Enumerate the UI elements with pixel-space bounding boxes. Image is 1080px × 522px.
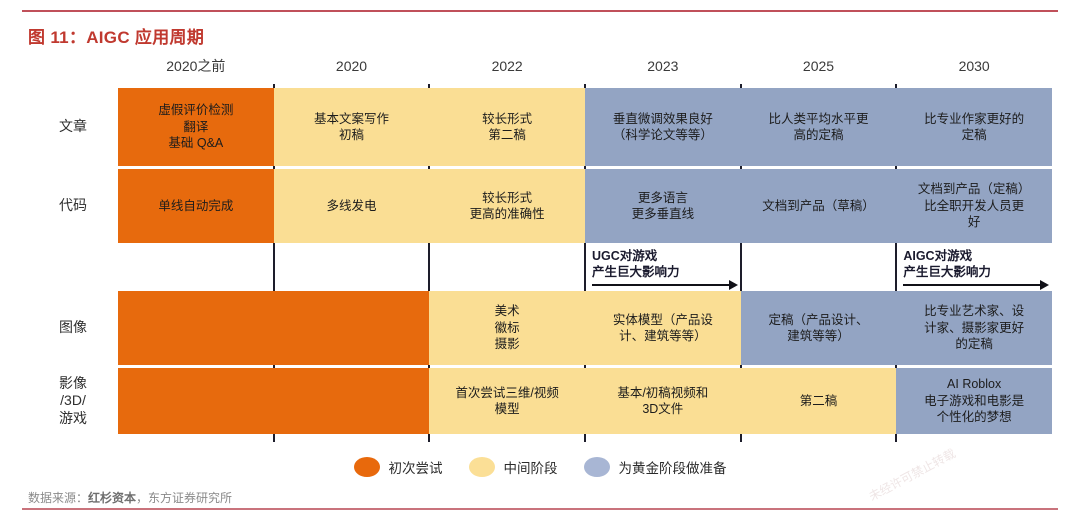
annotation-text-0: UGC对游戏 产生巨大影响力 xyxy=(592,248,738,281)
legend-label-orange: 初次尝试 xyxy=(389,457,443,477)
legend-swatch-blue xyxy=(584,457,610,477)
bottom-rule xyxy=(22,508,1058,510)
annotation-arrow-line-1 xyxy=(903,284,1041,286)
legend-item-orange: 初次尝试 xyxy=(354,457,443,477)
source-note: 数据来源：红杉资本，东方证券研究所 xyxy=(28,489,232,506)
source-suffix: ，东方证券研究所 xyxy=(136,491,232,505)
row-label-column: 文章代码图像影像 /3D/ 游戏 xyxy=(28,52,118,442)
legend-swatch-yellow xyxy=(469,457,495,477)
row-label-3: 影像 /3D/ 游戏 xyxy=(28,368,118,434)
legend: 初次尝试中间阶段为黄金阶段做准备 xyxy=(0,452,1080,482)
annotation-arrow-line-0 xyxy=(592,284,730,286)
legend-label-blue: 为黄金阶段做准备 xyxy=(619,457,727,477)
annotation-arrow-head-0 xyxy=(729,280,738,290)
legend-label-yellow: 中间阶段 xyxy=(504,457,558,477)
legend-item-yellow: 中间阶段 xyxy=(469,457,558,477)
legend-swatch-orange xyxy=(354,457,380,477)
annotation-arrow-head-1 xyxy=(1040,280,1049,290)
top-rule xyxy=(22,10,1058,12)
figure-title: 图 11：AIGC 应用周期 xyxy=(28,23,204,48)
legend-item-blue: 为黄金阶段做准备 xyxy=(584,457,727,477)
aigc-timeline-grid: 2020之前20202022202320252030 文章代码图像影像 /3D/… xyxy=(28,52,1052,442)
figure-container: 图 11：AIGC 应用周期 2020之前2020202220232025203… xyxy=(0,0,1080,522)
source-org: 红杉资本 xyxy=(88,491,136,505)
source-prefix: 数据来源： xyxy=(28,491,88,505)
row-label-1: 代码 xyxy=(28,169,118,243)
annotation-text-1: AIGC对游戏 产生巨大影响力 xyxy=(903,248,1049,281)
row-label-2: 图像 xyxy=(28,291,118,365)
impact-annotations: UGC对游戏 产生巨大影响力AIGC对游戏 产生巨大影响力 xyxy=(118,52,1052,442)
row-label-0: 文章 xyxy=(28,88,118,166)
